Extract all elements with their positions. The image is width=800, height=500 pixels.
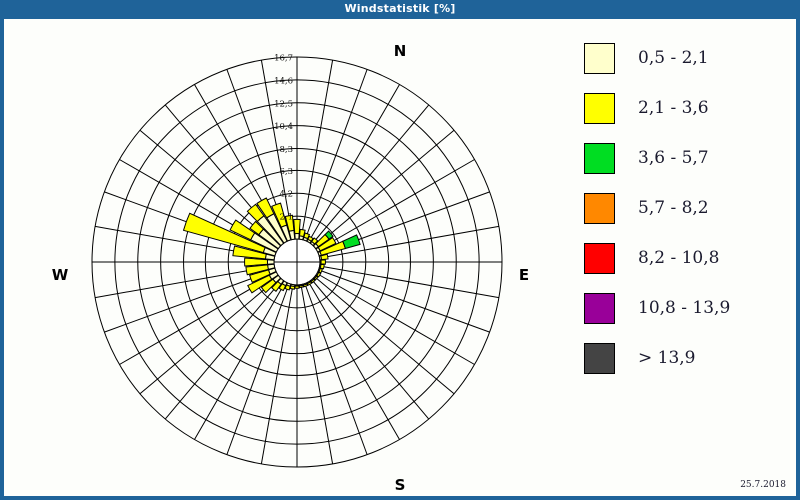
- grid-spoke: [261, 285, 293, 464]
- grid-spoke: [317, 160, 475, 251]
- grid-spoke: [312, 105, 429, 244]
- legend-label: 2,1 - 3,6: [638, 98, 709, 118]
- grid-spoke: [227, 284, 289, 455]
- legend-item: 0,5 - 2,1: [576, 33, 791, 83]
- legend-item: 10,8 - 13,9: [576, 283, 791, 333]
- compass-label-south: S: [4, 476, 796, 494]
- windrose-petal: [321, 260, 325, 264]
- legend: 0,5 - 2,12,1 - 3,63,6 - 5,75,7 - 8,28,2 …: [576, 33, 791, 383]
- legend-item: 3,6 - 5,7: [576, 133, 791, 183]
- radial-tick-label: 14,6: [274, 76, 293, 86]
- radial-tick-group: 2,14,26,38,310,412,514,616,7: [274, 54, 293, 223]
- compass-label-west: W: [48, 266, 72, 284]
- window-title: Windstatistik [%]: [344, 2, 455, 15]
- radial-tick-label: 2,1: [279, 213, 293, 223]
- grid-spoke: [140, 277, 279, 394]
- legend-label: 0,5 - 2,1: [638, 48, 709, 68]
- grid-spoke: [309, 84, 400, 242]
- legend-swatch: [584, 293, 615, 324]
- legend-item: 5,7 - 8,2: [576, 183, 791, 233]
- radial-tick-label: 6,3: [279, 167, 293, 177]
- date-stamp: 25.7.2018: [740, 480, 786, 490]
- grid-spoke: [301, 285, 333, 464]
- legend-label: 5,7 - 8,2: [638, 198, 709, 218]
- grid-group: [92, 57, 502, 467]
- grid-spoke: [315, 277, 454, 394]
- windrose-petal: [295, 234, 299, 240]
- legend-swatch: [584, 143, 615, 174]
- legend-swatch: [584, 193, 615, 224]
- windrose-petal: [290, 286, 294, 289]
- grid-spoke: [319, 270, 490, 332]
- legend-label: 3,6 - 5,7: [638, 148, 709, 168]
- legend-swatch: [584, 243, 615, 274]
- windrose-petal: [267, 260, 274, 265]
- radial-tick-label: 8,3: [279, 145, 293, 155]
- legend-swatch: [584, 43, 615, 74]
- chart-canvas: 2,14,26,38,310,412,514,616,7 N S W E 0,5…: [4, 19, 796, 496]
- radial-tick-label: 10,4: [274, 122, 293, 132]
- grid-spoke: [309, 282, 400, 440]
- legend-item: > 13,9: [576, 333, 791, 383]
- legend-label: 10,8 - 13,9: [638, 298, 730, 318]
- legend-swatch: [584, 93, 615, 124]
- window-root: Windstatistik [%] 2,14,26,38,310,412,514…: [0, 0, 800, 500]
- windrose-petal: [294, 219, 301, 233]
- window-title-bar: Windstatistik [%]: [0, 0, 800, 17]
- windrose-svg: 2,14,26,38,310,412,514,616,7: [4, 19, 524, 496]
- grid-spoke: [165, 280, 282, 419]
- windrose-petal: [320, 264, 324, 268]
- windrose-petal: [343, 235, 360, 249]
- windrose-petal: [295, 286, 299, 288]
- grid-spoke: [315, 130, 454, 247]
- grid-spoke: [104, 270, 275, 332]
- legend-label: 8,2 - 10,8: [638, 248, 719, 268]
- grid-spoke: [301, 60, 333, 239]
- grid-spoke: [305, 69, 367, 240]
- windrose-petal: [299, 285, 303, 287]
- windrose-plot: 2,14,26,38,310,412,514,616,7: [4, 19, 524, 496]
- radial-tick-label: 12,5: [274, 99, 293, 109]
- legend-label: > 13,9: [638, 348, 696, 368]
- legend-item: 2,1 - 3,6: [576, 83, 791, 133]
- grid-spoke: [305, 284, 367, 455]
- grid-spoke: [320, 266, 499, 298]
- legend-swatch: [584, 343, 615, 374]
- grid-spoke: [317, 274, 475, 365]
- compass-label-east: E: [512, 266, 536, 284]
- legend-item: 8,2 - 10,8: [576, 233, 791, 283]
- radial-tick-label: 4,2: [279, 190, 293, 200]
- grid-spoke: [312, 280, 429, 419]
- grid-spoke: [195, 282, 286, 440]
